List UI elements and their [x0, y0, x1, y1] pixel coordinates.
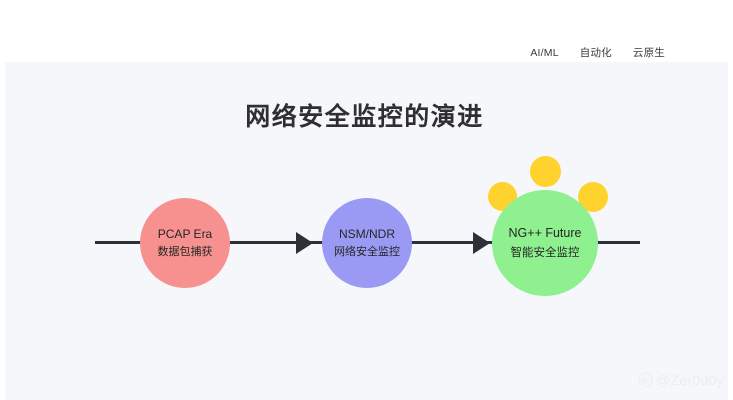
- nav-item-ai-ml[interactable]: AI/ML: [530, 48, 558, 59]
- timeline-node-title: NG++ Future: [509, 227, 582, 240]
- page-title: 网络安全监控的演进: [0, 105, 733, 130]
- accent-dot-top-icon: [530, 156, 561, 187]
- weibo-logo-icon: [638, 372, 653, 387]
- arrow-right-icon-1: [296, 232, 313, 254]
- nav-item-cloud-native[interactable]: 云原生: [633, 48, 665, 59]
- timeline-node-nsm-ndr[interactable]: NSM/NDR 网络安全监控: [322, 198, 412, 288]
- nav-item-automation[interactable]: 自动化: [580, 48, 612, 59]
- watermark-text: @Zer0d0y: [656, 373, 724, 387]
- timeline-node-subtitle: 数据包捕获: [158, 247, 213, 258]
- page-title-text: 网络安全监控的演进: [245, 105, 484, 130]
- timeline-node-ng-future[interactable]: NG++ Future 智能安全监控: [492, 190, 598, 296]
- timeline-node-subtitle: 智能安全监控: [511, 248, 580, 260]
- top-navigation: AI/ML 自动化 云原生: [0, 44, 733, 62]
- timeline-node-subtitle: 网络安全监控: [334, 247, 400, 258]
- timeline-node-pcap-era[interactable]: PCAP Era 数据包捕获: [140, 198, 230, 288]
- watermark: @Zer0d0y: [638, 372, 724, 387]
- timeline-node-title: PCAP Era: [158, 228, 212, 240]
- arrow-right-icon-2: [473, 232, 490, 254]
- timeline-node-title: NSM/NDR: [339, 228, 395, 240]
